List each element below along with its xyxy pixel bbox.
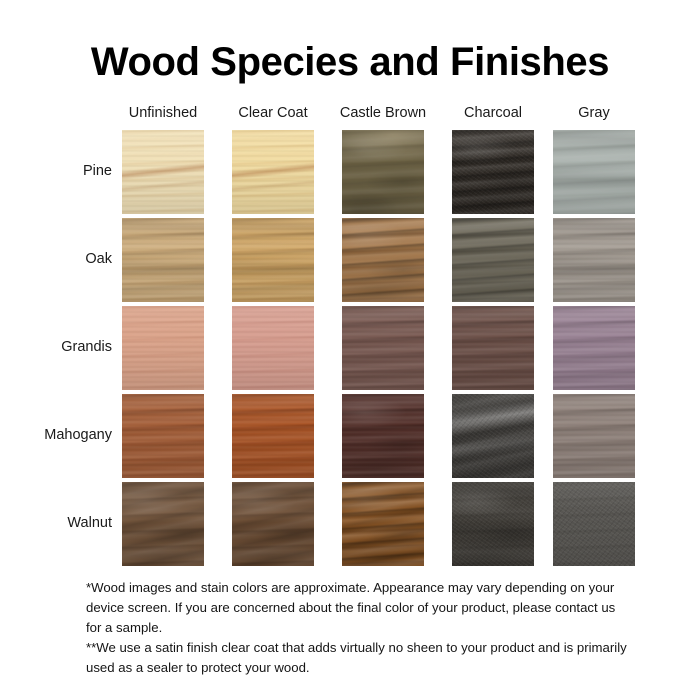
wood-accent-layer bbox=[553, 306, 635, 390]
wood-accent-layer bbox=[553, 130, 635, 214]
row-label-grandis: Grandis bbox=[0, 340, 112, 355]
wood-accent-layer bbox=[342, 130, 424, 214]
wood-accent-layer bbox=[342, 482, 424, 566]
column-header-label: Gray bbox=[529, 106, 659, 122]
wood-accent-layer bbox=[122, 306, 204, 390]
swatch-oak-clear-coat[interactable] bbox=[232, 218, 314, 302]
wood-accent-layer bbox=[232, 306, 314, 390]
wood-accent-layer bbox=[232, 218, 314, 302]
wood-accent-layer bbox=[342, 218, 424, 302]
column-header-clear-coat: Clear Coat bbox=[232, 106, 314, 122]
wood-accent-layer bbox=[452, 218, 534, 302]
wood-finish-chart: Wood Species and Finishes UnfinishedClea… bbox=[0, 0, 700, 700]
row-label-walnut: Walnut bbox=[0, 516, 112, 531]
swatch-grandis-gray[interactable] bbox=[553, 306, 635, 390]
swatch-mahogany-unfinished[interactable] bbox=[122, 394, 204, 478]
footnote-satin-clear-coat: **We use a satin finish clear coat that … bbox=[86, 638, 632, 678]
wood-accent-layer bbox=[553, 218, 635, 302]
swatch-pine-castle-brown[interactable] bbox=[342, 130, 424, 214]
swatch-grandis-clear-coat[interactable] bbox=[232, 306, 314, 390]
swatch-mahogany-charcoal[interactable] bbox=[452, 394, 534, 478]
swatch-oak-charcoal[interactable] bbox=[452, 218, 534, 302]
wood-accent-layer bbox=[342, 306, 424, 390]
swatch-oak-castle-brown[interactable] bbox=[342, 218, 424, 302]
wood-accent-layer bbox=[232, 130, 314, 214]
swatch-grandis-castle-brown[interactable] bbox=[342, 306, 424, 390]
swatch-pine-unfinished[interactable] bbox=[122, 130, 204, 214]
footnote-approximate-colors: *Wood images and stain colors are approx… bbox=[86, 578, 632, 638]
column-header-castle-brown: Castle Brown bbox=[342, 106, 424, 122]
swatch-pine-clear-coat[interactable] bbox=[232, 130, 314, 214]
swatch-walnut-gray[interactable] bbox=[553, 482, 635, 566]
wood-accent-layer bbox=[122, 394, 204, 478]
wood-accent-layer bbox=[232, 482, 314, 566]
page-title: Wood Species and Finishes bbox=[0, 42, 700, 82]
column-header-charcoal: Charcoal bbox=[452, 106, 534, 122]
row-label-mahogany: Mahogany bbox=[0, 428, 112, 443]
swatch-pine-charcoal[interactable] bbox=[452, 130, 534, 214]
swatch-mahogany-gray[interactable] bbox=[553, 394, 635, 478]
swatch-grandis-charcoal[interactable] bbox=[452, 306, 534, 390]
row-label-oak: Oak bbox=[0, 252, 112, 267]
row-label-pine: Pine bbox=[0, 164, 112, 179]
wood-accent-layer bbox=[452, 306, 534, 390]
swatch-walnut-clear-coat[interactable] bbox=[232, 482, 314, 566]
wood-accent-layer bbox=[122, 218, 204, 302]
swatch-walnut-castle-brown[interactable] bbox=[342, 482, 424, 566]
wood-accent-layer bbox=[452, 130, 534, 214]
swatch-mahogany-clear-coat[interactable] bbox=[232, 394, 314, 478]
column-header-gray: Gray bbox=[553, 106, 635, 122]
wood-accent-layer bbox=[342, 394, 424, 478]
wood-accent-layer bbox=[122, 482, 204, 566]
wood-accent-layer bbox=[553, 482, 635, 566]
swatch-grandis-unfinished[interactable] bbox=[122, 306, 204, 390]
wood-accent-layer bbox=[232, 394, 314, 478]
swatch-walnut-charcoal[interactable] bbox=[452, 482, 534, 566]
swatch-pine-gray[interactable] bbox=[553, 130, 635, 214]
column-header-unfinished: Unfinished bbox=[122, 106, 204, 122]
swatch-mahogany-castle-brown[interactable] bbox=[342, 394, 424, 478]
wood-accent-layer bbox=[452, 482, 534, 566]
footnotes: *Wood images and stain colors are approx… bbox=[86, 578, 632, 678]
swatch-oak-unfinished[interactable] bbox=[122, 218, 204, 302]
wood-accent-layer bbox=[122, 130, 204, 214]
wood-accent-layer bbox=[553, 394, 635, 478]
wood-accent-layer bbox=[452, 394, 534, 478]
swatch-oak-gray[interactable] bbox=[553, 218, 635, 302]
swatch-walnut-unfinished[interactable] bbox=[122, 482, 204, 566]
